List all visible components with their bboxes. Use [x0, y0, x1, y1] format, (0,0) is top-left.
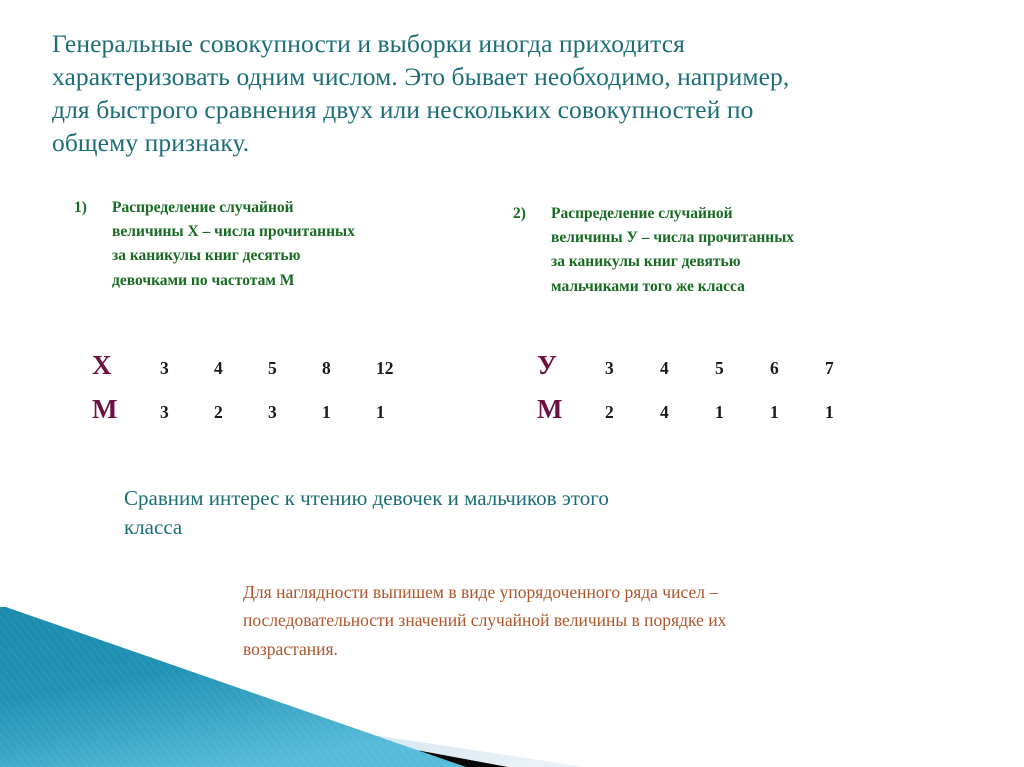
- cell-y-2: 5: [715, 360, 770, 378]
- cell-x-4: 12: [376, 360, 430, 378]
- table-row: Х 3 4 5 8 12: [92, 352, 430, 396]
- list-marker-1: 1): [74, 196, 112, 220]
- cell-my-2: 1: [715, 404, 770, 422]
- cell-y-3: 6: [770, 360, 825, 378]
- cell-mx-2: 3: [268, 404, 322, 422]
- cell-mx-3: 1: [322, 404, 376, 422]
- cell-mx-4: 1: [376, 404, 430, 422]
- row-label-m-x: М: [92, 396, 160, 423]
- cell-my-1: 4: [660, 404, 715, 422]
- cell-my-3: 1: [770, 404, 825, 422]
- row-label-y: У: [537, 352, 605, 379]
- table-row: М 3 2 3 1 1: [92, 396, 430, 440]
- deco-black-stripe: [0, 673, 508, 767]
- row-label-m-y: М: [537, 396, 605, 423]
- table-row: М 2 4 1 1 1: [537, 396, 880, 440]
- numbered-list-item-2: 2) Распределение случайной величины У – …: [513, 202, 843, 299]
- table-row: У 3 4 5 6 7: [537, 352, 880, 396]
- slide-title: Генеральные совокупности и выборки иногд…: [52, 28, 952, 160]
- deco-pale-band: [0, 679, 586, 767]
- cell-mx-0: 3: [160, 404, 214, 422]
- cell-y-1: 4: [660, 360, 715, 378]
- frequency-table-y: У 3 4 5 6 7 М 2 4 1 1 1: [537, 352, 880, 440]
- cell-my-0: 2: [605, 404, 660, 422]
- list-text-1: Распределение случайной величины Х – чис…: [112, 196, 454, 293]
- frequency-table-x: Х 3 4 5 8 12 М 3 2 3 1 1: [92, 352, 430, 440]
- list-marker-2: 2): [513, 202, 551, 226]
- cell-my-4: 1: [825, 404, 880, 422]
- cell-x-3: 8: [322, 360, 376, 378]
- cell-y-4: 7: [825, 360, 880, 378]
- cell-x-1: 4: [214, 360, 268, 378]
- numbered-list-item-1: 1) Распределение случайной величины Х – …: [74, 196, 454, 293]
- explanation-paragraph: Для наглядности выпишем в виде упорядоче…: [243, 578, 943, 663]
- cell-x-0: 3: [160, 360, 214, 378]
- comparison-paragraph: Сравним интерес к чтению девочек и мальч…: [124, 484, 764, 542]
- list-text-2: Распределение случайной величины У – чис…: [551, 202, 843, 299]
- row-label-x: Х: [92, 352, 160, 379]
- cell-mx-1: 2: [214, 404, 268, 422]
- cell-y-0: 3: [605, 360, 660, 378]
- slide-canvas: Генеральные совокупности и выборки иногд…: [0, 0, 1024, 767]
- cell-x-2: 5: [268, 360, 322, 378]
